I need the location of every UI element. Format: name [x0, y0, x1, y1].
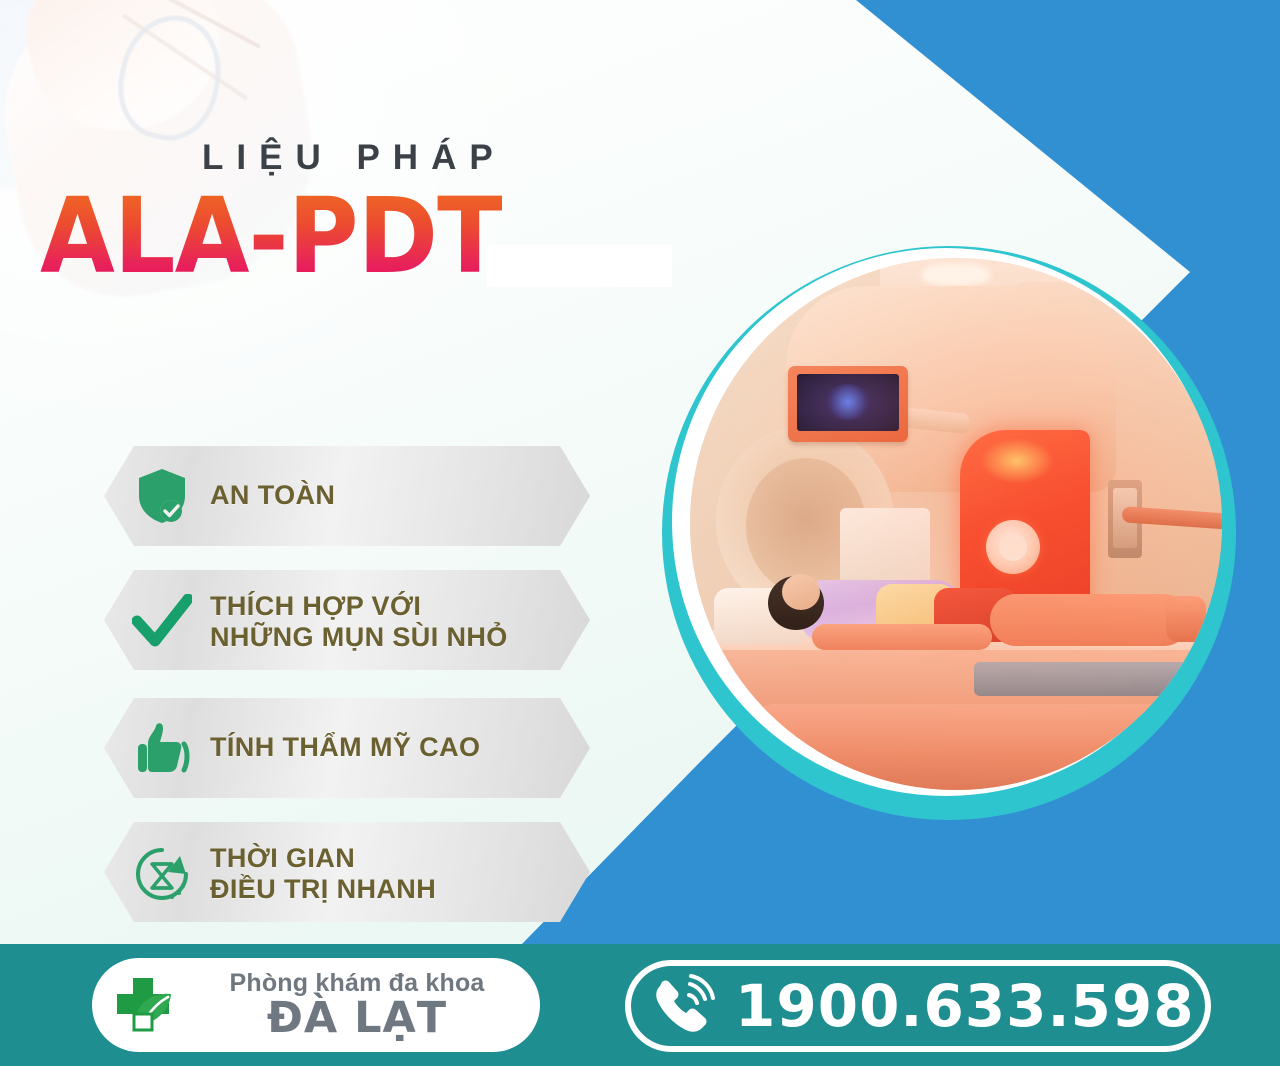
phone-number: 1900.633.598 [735, 977, 1195, 1035]
thumbs-up-icon [114, 720, 210, 776]
feature-badge: TÍNH THẨM MỸ CAO [104, 698, 590, 798]
treatment-photo [690, 258, 1222, 790]
feature-badge: AN TOÀN [104, 446, 590, 546]
clinic-badge[interactable]: Phòng khám đa khoa ĐÀ LẠT [92, 958, 540, 1052]
shield-check-icon [114, 467, 210, 525]
feature-badge: THỜI GIAN ĐIỀU TRỊ NHANH [104, 822, 590, 926]
footer-bar: Phòng khám đa khoa ĐÀ LẠT 1900.633.598 [0, 944, 1280, 1066]
wordmark-text: ALA-PDT [40, 187, 502, 287]
feature-list: AN TOÀN THÍCH HỢP VỚI NHỮNG MỤN SÙI NHỎ [104, 446, 590, 950]
feature-line1: THÍCH HỢP VỚI [210, 591, 421, 621]
feature-line1: AN TOÀN [210, 480, 335, 510]
photo-circle-ring [662, 246, 1236, 820]
white-block-decoration [487, 245, 672, 287]
feature-label: TÍNH THẨM MỸ CAO [210, 732, 480, 763]
check-mark-icon [114, 594, 210, 650]
wordmark-wrap: ALA-PDT [40, 187, 680, 287]
photo-circle-white-border [672, 248, 1220, 796]
feature-line2: NHỮNG MỤN SÙI NHỎ [210, 622, 508, 653]
headline-block: LIỆU PHÁP ALA-PDT [40, 140, 680, 287]
clinic-cross-leaf-icon [92, 974, 196, 1036]
kicker-text: LIỆU PHÁP [202, 140, 680, 175]
clinic-text-block: Phòng khám đa khoa ĐÀ LẠT [196, 970, 540, 1039]
feature-line1: TÍNH THẨM MỸ CAO [210, 732, 480, 762]
feature-line1: THỜI GIAN [210, 843, 355, 873]
hourglass-clock-icon [114, 844, 210, 904]
feature-label: AN TOÀN [210, 480, 335, 511]
feature-label: THÍCH HỢP VỚI NHỮNG MỤN SÙI NHỎ [210, 591, 508, 654]
phone-cta[interactable]: 1900.633.598 [625, 960, 1211, 1052]
feature-line2: ĐIỀU TRỊ NHANH [210, 874, 436, 905]
feature-label: THỜI GIAN ĐIỀU TRỊ NHANH [210, 843, 436, 906]
phone-ringing-icon [631, 974, 735, 1038]
clinic-name: ĐÀ LẠT [267, 997, 447, 1040]
promo-banner: LIỆU PHÁP ALA-PDT AN TOÀN [0, 0, 1280, 1066]
feature-badge: THÍCH HỢP VỚI NHỮNG MỤN SÙI NHỎ [104, 570, 590, 674]
